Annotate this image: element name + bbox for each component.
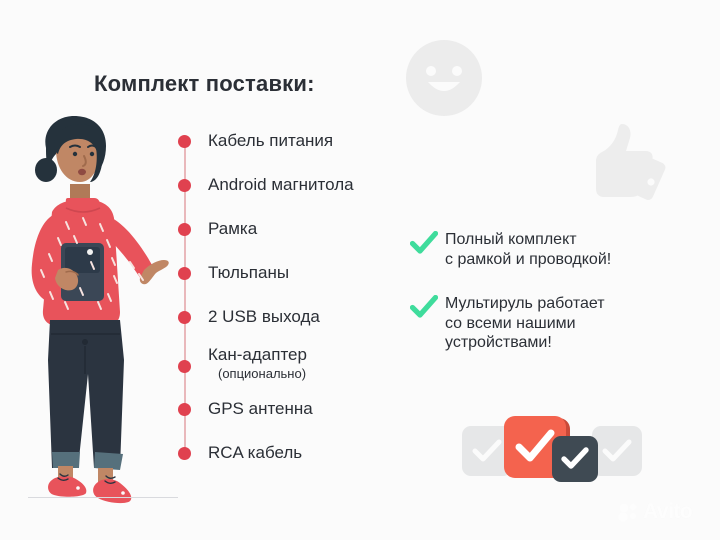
- benefit-text: Мультируль работает со всеми нашими устр…: [445, 294, 605, 353]
- floor-line: [28, 497, 178, 498]
- check-icon: [410, 231, 438, 260]
- benefit-item: Полный комплект с рамкой и проводкой!: [410, 230, 680, 269]
- list-item-label: GPS антенна: [208, 400, 313, 419]
- list-item-label: Кабель питания: [208, 132, 333, 151]
- bullet-dot: [178, 223, 191, 236]
- bullet-dot: [178, 267, 191, 280]
- avito-logo-icon: [618, 502, 640, 522]
- bullet-dot: [178, 447, 191, 460]
- list-item-label: 2 USB выхода: [208, 308, 320, 327]
- avito-wordmark: Avito: [643, 500, 692, 524]
- page-title: Комплект поставки:: [94, 71, 315, 97]
- checkbox-card-dark: [552, 436, 598, 482]
- list-item-sublabel: (опционально): [218, 367, 306, 381]
- list-item-label: Рамка: [208, 220, 257, 239]
- benefit-text: Полный комплект с рамкой и проводкой!: [445, 230, 611, 269]
- bullet-dot: [178, 135, 191, 148]
- bullet-dot: [178, 179, 191, 192]
- bullet-dot: [178, 360, 191, 373]
- promo-banner: Комплект поставки: Кабель питания Androi…: [0, 0, 720, 540]
- thumbs-up-icon: [578, 118, 670, 210]
- avito-watermark: Avito: [618, 500, 692, 524]
- list-item-label: Android магнитола: [208, 176, 354, 195]
- woman-illustration: [8, 112, 178, 512]
- check-icon: [410, 295, 438, 324]
- checkbox-cards-group: [462, 416, 642, 484]
- bullet-dot: [178, 311, 191, 324]
- list-item-label: Тюльпаны: [208, 264, 289, 283]
- benefit-item: Мультируль работает со всеми нашими устр…: [410, 294, 690, 353]
- checkbox-card-grey-right: [592, 426, 642, 476]
- smiley-face-icon: [404, 38, 484, 118]
- bullet-dot: [178, 403, 191, 416]
- package-contents-list: Кабель питания Android магнитола Рамка Т…: [178, 132, 438, 462]
- list-item-label: Кан-адаптер: [208, 346, 307, 365]
- list-item-label: RCA кабель: [208, 444, 302, 463]
